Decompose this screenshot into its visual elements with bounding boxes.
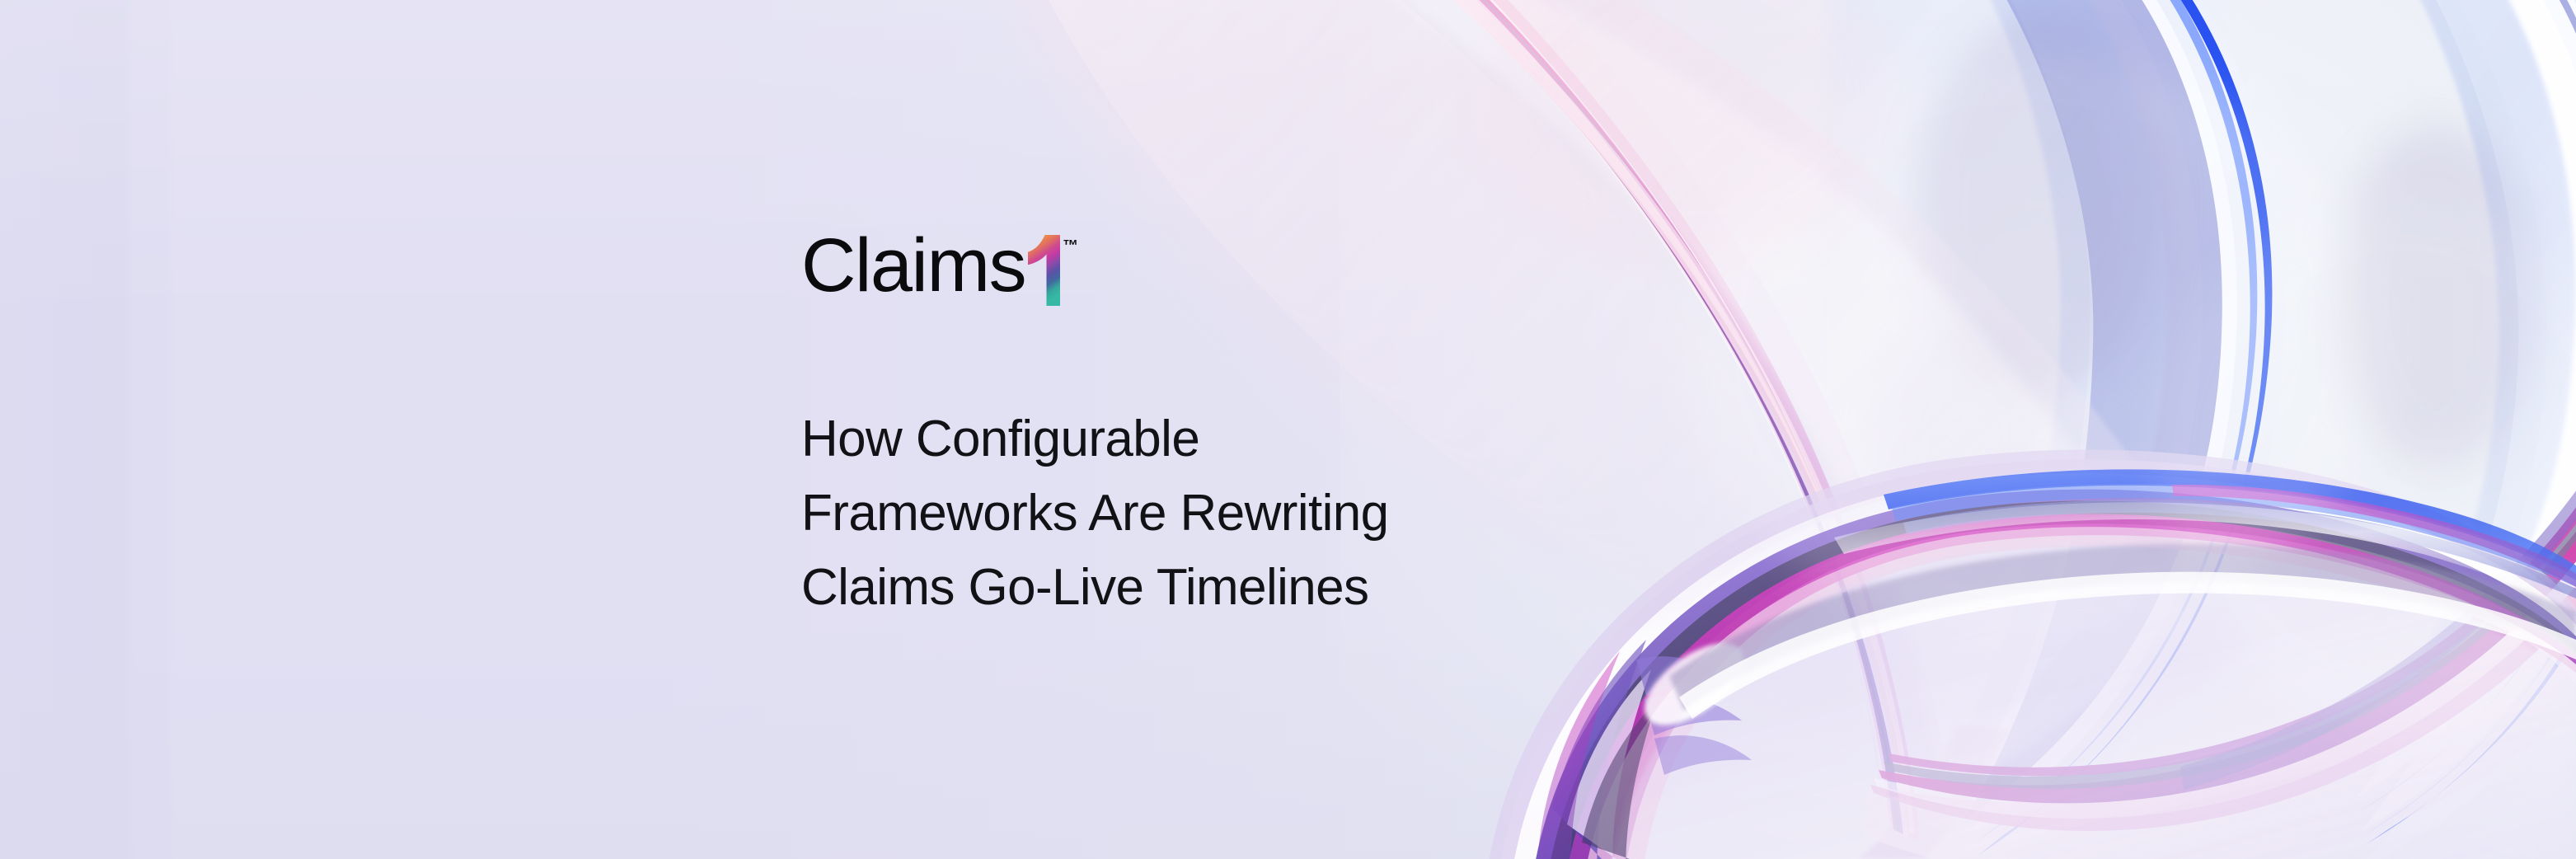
trademark-symbol: ™ [1063,238,1078,254]
headline-line-3: Claims Go-Live Timelines [801,551,1389,625]
page-title: How Configurable Frameworks Are Rewritin… [801,402,1389,625]
hero-banner: Claims [0,0,2576,859]
claims1-logo: Claims [801,235,1078,306]
logo-numeral-one-icon [1024,235,1060,306]
hero-content: Claims [801,0,1626,859]
headline-line-2: Frameworks Are Rewriting [801,476,1389,551]
logo-wordmark: Claims [801,235,1025,297]
headline-line-1: How Configurable [801,402,1389,476]
